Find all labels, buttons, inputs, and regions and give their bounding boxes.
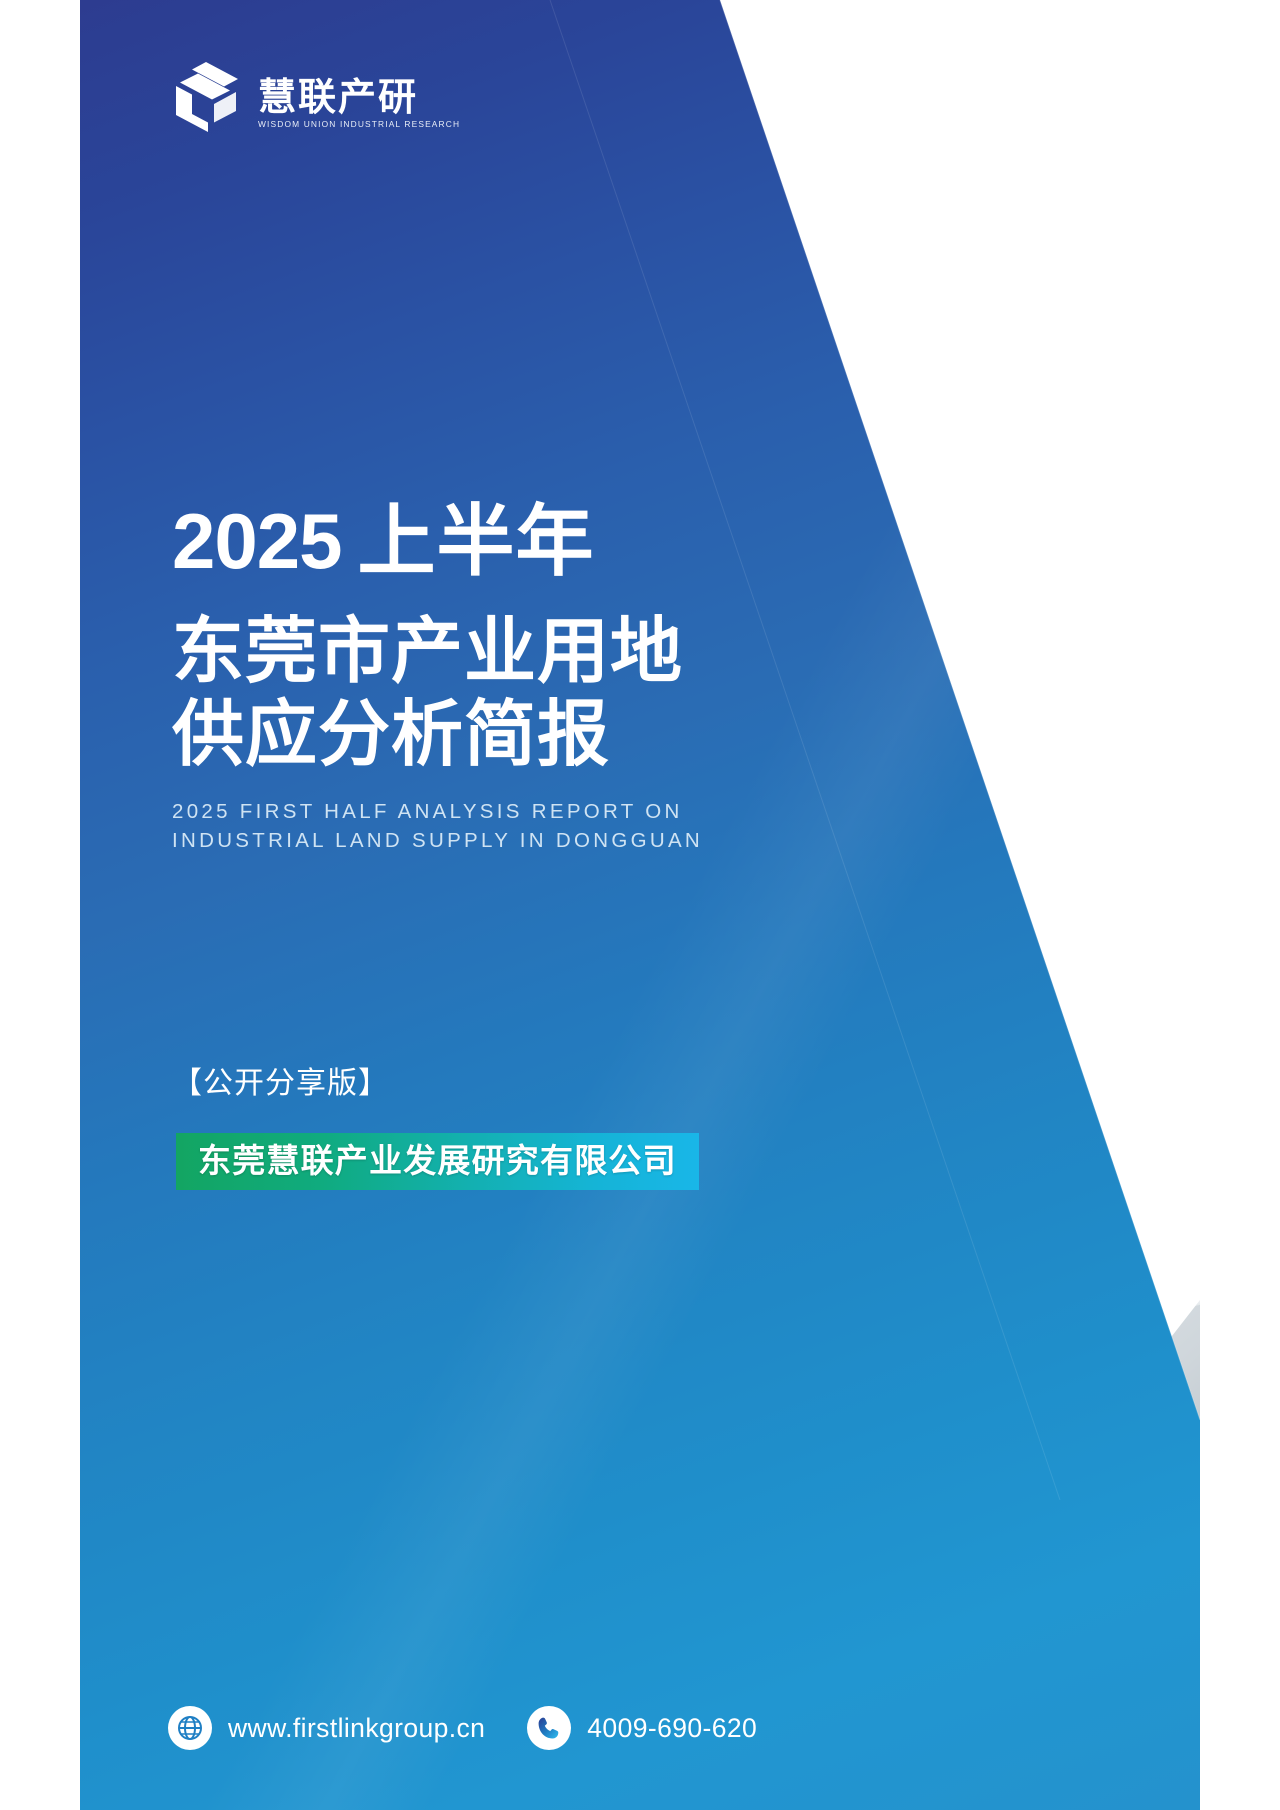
globe-icon [168, 1706, 212, 1750]
logo-english-name: WISDOM UNION INDUSTRIAL RESEARCH [258, 120, 460, 128]
report-cover: 慧联产研 WISDOM UNION INDUSTRIAL RESEARCH 20… [80, 0, 1200, 1810]
website-text: www.firstlinkgroup.cn [228, 1713, 485, 1744]
blue-diagonal-panel [80, 0, 1200, 1810]
company-logo: 慧联产研 WISDOM UNION INDUSTRIAL RESEARCH [168, 58, 460, 136]
phone-icon [527, 1706, 571, 1750]
title-block: 2025上半年 东莞市产业用地 供应分析简报 2025 FIRST HALF A… [172, 500, 812, 856]
logo-chinese-name: 慧联产研 [258, 78, 460, 116]
footer-contact-bar: www.firstlinkgroup.cn 4009-690-620 [168, 1706, 757, 1750]
company-name-badge: 东莞慧联产业发展研究有限公司 [176, 1133, 699, 1190]
cube-box-logo-icon [168, 58, 244, 136]
title-line-2: 东莞市产业用地 [172, 610, 812, 694]
report-year: 2025 [172, 497, 342, 585]
edition-label: 【公开分享版】 [172, 1058, 389, 1102]
footer-phone[interactable]: 4009-690-620 [527, 1706, 757, 1750]
footer-website[interactable]: www.firstlinkgroup.cn [168, 1706, 485, 1750]
report-period: 上半年 [358, 497, 595, 587]
subtitle-english: 2025 FIRST HALF ANALYSIS REPORT ON INDUS… [172, 797, 812, 856]
subtitle-english-line-1: 2025 FIRST HALF ANALYSIS REPORT ON [172, 797, 812, 827]
subtitle-english-line-2: INDUSTRIAL LAND SUPPLY IN DONGGUAN [172, 826, 812, 856]
title-line-3: 供应分析简报 [172, 693, 812, 777]
title-line-year-period: 2025上半年 [172, 500, 812, 584]
phone-text: 4009-690-620 [587, 1713, 757, 1744]
